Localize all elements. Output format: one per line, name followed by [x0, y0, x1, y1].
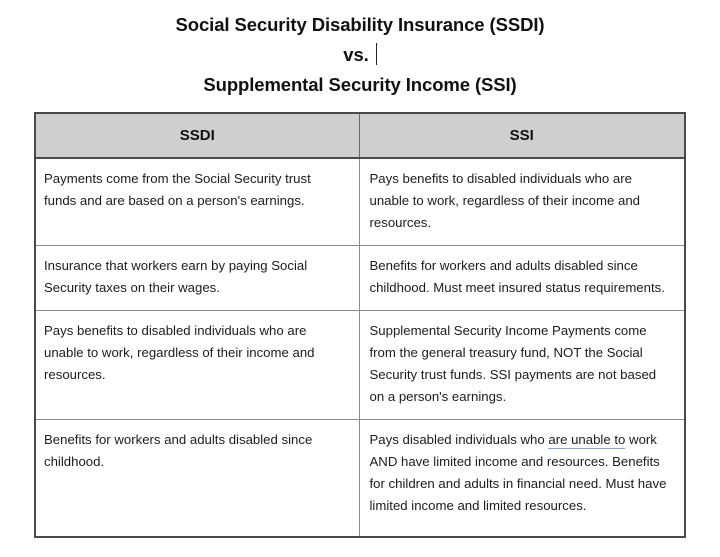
comparison-table-wrapper: SSDI SSI Payments come from the Social S… — [34, 112, 684, 538]
column-header-ssdi[interactable]: SSDI — [35, 113, 359, 158]
document-page: Social Security Disability Insurance (SS… — [0, 0, 720, 557]
table-body: Payments come from the Social Security t… — [35, 158, 685, 537]
spellcheck-flagged-text[interactable]: are unable to — [548, 432, 625, 449]
cell-ssi-1[interactable]: Pays benefits to disabled individuals wh… — [359, 158, 685, 246]
title-line-2-text-wrap: vs. — [343, 40, 376, 70]
table-header-row: SSDI SSI — [35, 113, 685, 158]
cell-ssi-2[interactable]: Benefits for workers and adults disabled… — [359, 246, 685, 311]
cell-ssdi-1[interactable]: Payments come from the Social Security t… — [35, 158, 359, 246]
cell-ssi-4[interactable]: Pays disabled individuals who are unable… — [359, 420, 685, 538]
table-header: SSDI SSI — [35, 113, 685, 158]
document-title-block: Social Security Disability Insurance (SS… — [0, 0, 720, 100]
cell-ssdi-2[interactable]: Insurance that workers earn by paying So… — [35, 246, 359, 311]
table-row: Insurance that workers earn by paying So… — [35, 246, 685, 311]
title-line-1[interactable]: Social Security Disability Insurance (SS… — [0, 10, 720, 40]
column-header-ssi[interactable]: SSI — [359, 113, 685, 158]
cell-ssdi-4[interactable]: Benefits for workers and adults disabled… — [35, 420, 359, 538]
title-line-2: vs. — [343, 44, 368, 65]
cell-ssdi-3[interactable]: Pays benefits to disabled individuals wh… — [35, 311, 359, 420]
title-line-2-wrapper[interactable]: vs. — [0, 40, 720, 70]
table-row: Benefits for workers and adults disabled… — [35, 420, 685, 538]
ssdi-vs-ssi-table: SSDI SSI Payments come from the Social S… — [34, 112, 686, 538]
table-row: Pays benefits to disabled individuals wh… — [35, 311, 685, 420]
text-caret — [376, 43, 377, 65]
table-row: Payments come from the Social Security t… — [35, 158, 685, 246]
title-line-3[interactable]: Supplemental Security Income (SSI) — [0, 70, 720, 100]
cell-ssi-3[interactable]: Supplemental Security Income Payments co… — [359, 311, 685, 420]
cell-ssi-4-text-before: Pays disabled individuals who — [370, 432, 549, 447]
